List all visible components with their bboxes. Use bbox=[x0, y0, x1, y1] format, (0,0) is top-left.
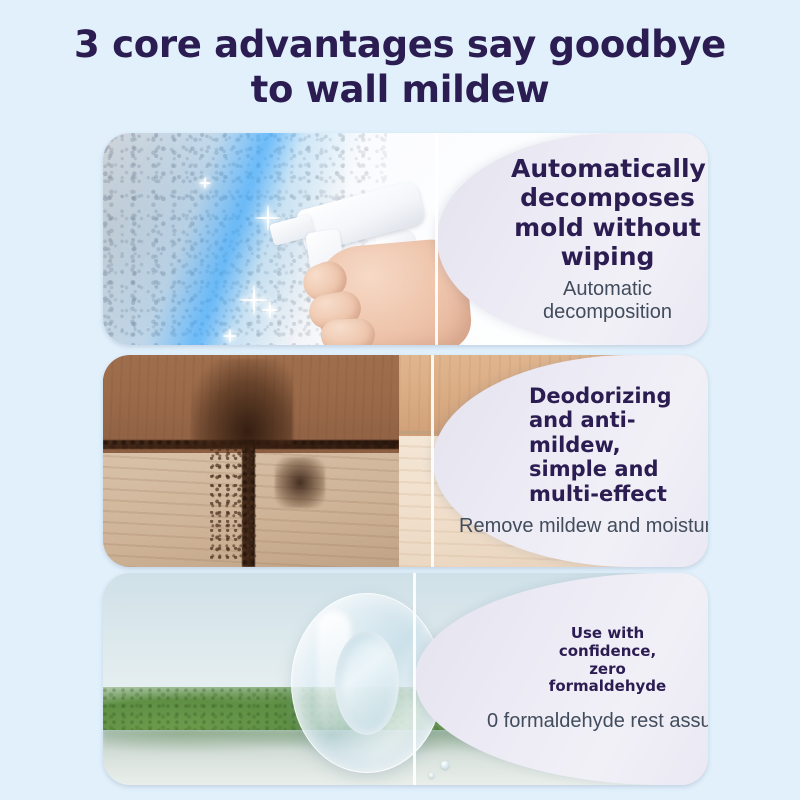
sparkle-icon bbox=[261, 301, 279, 319]
water-droplet-icon bbox=[429, 773, 434, 778]
glass-zero-hole bbox=[335, 631, 399, 735]
advantage-card-1[interactable]: Automatically decomposes mold without wi… bbox=[103, 133, 708, 345]
finger bbox=[320, 318, 375, 345]
advantage-card-3[interactable]: Use with confidence, zero formaldehyde 0… bbox=[103, 573, 708, 785]
mold-speckles bbox=[210, 448, 257, 558]
sparkle-icon bbox=[223, 329, 237, 343]
card-3-title: Use with confidence, zero formaldehyde bbox=[511, 625, 704, 695]
card-2-subtitle: Remove mildew and moisture bbox=[459, 515, 704, 538]
card-2-title: Deodorizing and anti-mildew, simple and … bbox=[511, 384, 704, 507]
advertisement-page: 3 core advantages say goodbye to wall mi… bbox=[0, 0, 800, 800]
card-1-subtitle: Automatic decomposition bbox=[511, 278, 704, 324]
page-title-line-2: to wall mildew bbox=[0, 67, 800, 112]
sparkle-icon bbox=[199, 177, 211, 189]
advantage-card-2[interactable]: Deodorizing and anti-mildew, simple and … bbox=[103, 355, 708, 567]
water-droplet-icon bbox=[441, 761, 449, 769]
card-1-title: Automatically decomposes mold without wi… bbox=[511, 154, 704, 271]
page-title-line-1: 3 core advantages say goodbye bbox=[74, 23, 726, 66]
moldy-wood-before bbox=[103, 355, 399, 567]
mold-corner-stain bbox=[192, 359, 293, 444]
page-title: 3 core advantages say goodbye to wall mi… bbox=[0, 22, 800, 112]
card-3-subtitle: 0 formaldehyde rest assured bbox=[487, 710, 704, 733]
mold-blotch bbox=[275, 457, 325, 508]
